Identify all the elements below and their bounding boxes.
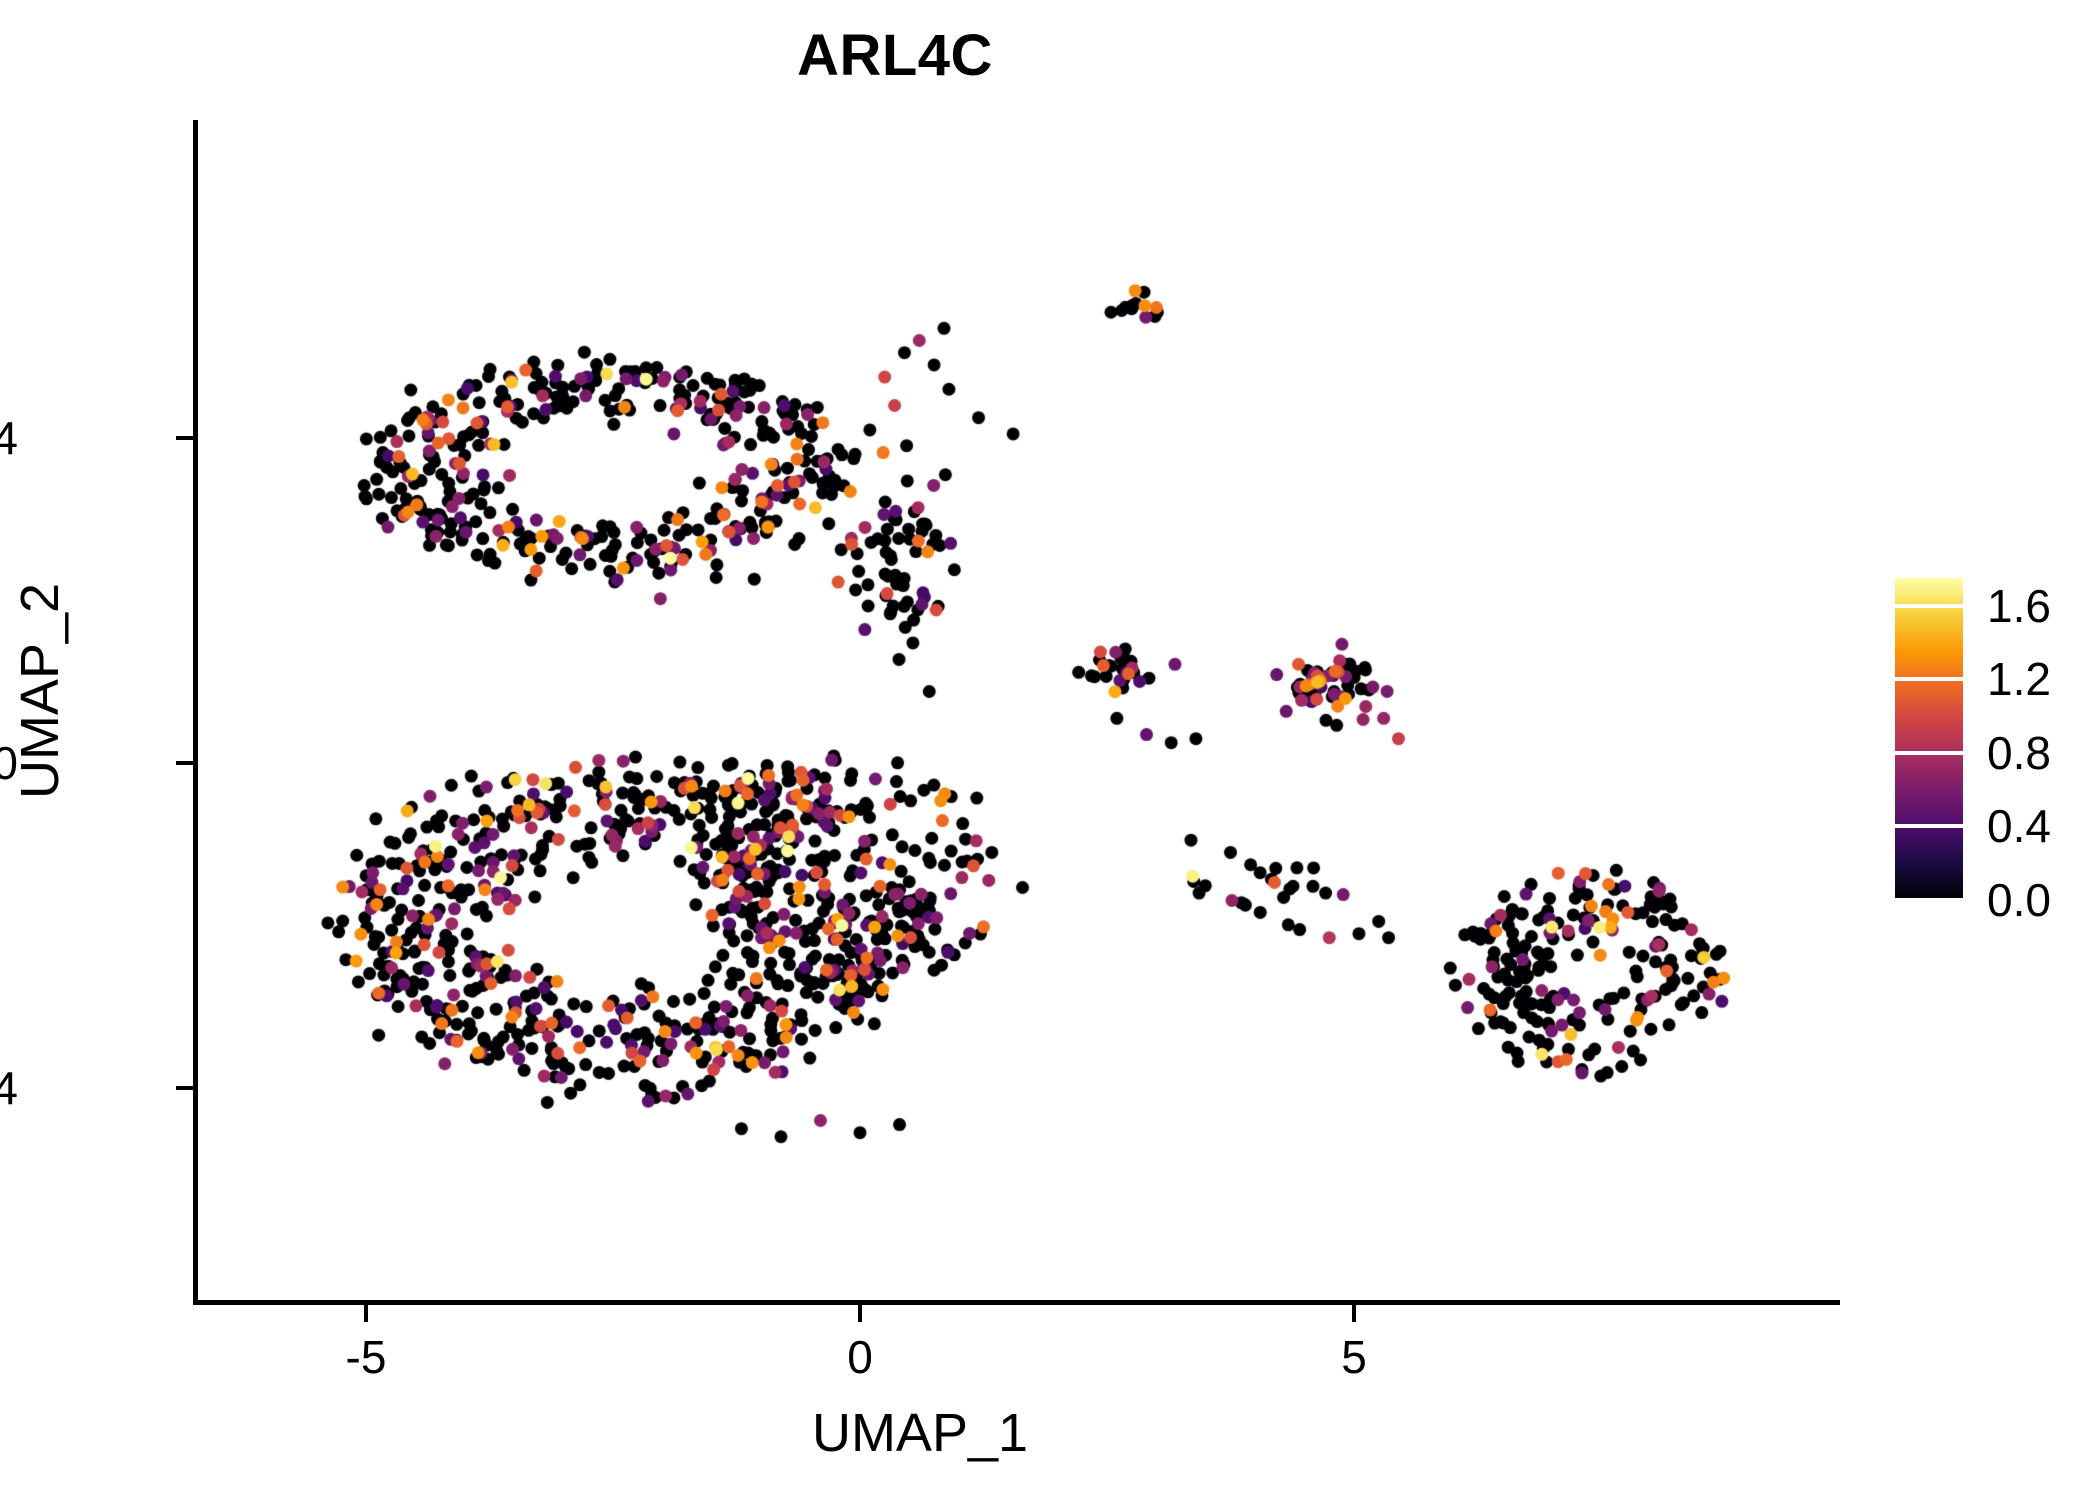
colorbar-tick-label: 1.6 bbox=[1987, 579, 2051, 633]
colorbar-tick-label: 0.0 bbox=[1987, 873, 2051, 927]
colorbar-tick-mark bbox=[1895, 824, 1963, 828]
colorbar-tick-mark bbox=[1895, 604, 1963, 608]
plot-panel bbox=[195, 120, 1840, 1302]
x-tick-mark bbox=[858, 1305, 862, 1322]
y-axis-line bbox=[193, 120, 198, 1305]
x-tick-label: -5 bbox=[296, 1330, 436, 1384]
y-axis-title: UMAP_2 bbox=[9, 391, 71, 991]
colorbar-tick-label: 0.8 bbox=[1987, 726, 2051, 780]
colorbar-tick-label: 0.4 bbox=[1987, 799, 2051, 853]
x-tick-mark bbox=[364, 1305, 368, 1322]
y-tick-label: -4 bbox=[0, 1061, 18, 1115]
colorbar-tick-mark bbox=[1895, 898, 1963, 902]
colorbar-tick-mark bbox=[1895, 751, 1963, 755]
x-tick-label: 0 bbox=[790, 1330, 930, 1384]
page-title: ARL4C bbox=[0, 22, 1790, 89]
y-tick-mark bbox=[176, 436, 193, 440]
colorbar-gradient bbox=[1895, 578, 1963, 900]
y-tick-mark bbox=[176, 1086, 193, 1090]
x-axis-line bbox=[193, 1300, 1840, 1305]
chart-root: ARL4C 40-4-505 UMAP_1 UMAP_2 0.00.40.81.… bbox=[0, 0, 2100, 1500]
x-tick-mark bbox=[1352, 1305, 1356, 1322]
x-tick-label: 5 bbox=[1284, 1330, 1424, 1384]
scatter-plot-canvas bbox=[195, 120, 1840, 1302]
y-tick-mark bbox=[176, 761, 193, 765]
colorbar-tick-label: 1.2 bbox=[1987, 652, 2051, 706]
colorbar-tick-mark bbox=[1895, 677, 1963, 681]
x-axis-title: UMAP_1 bbox=[0, 1402, 1840, 1464]
